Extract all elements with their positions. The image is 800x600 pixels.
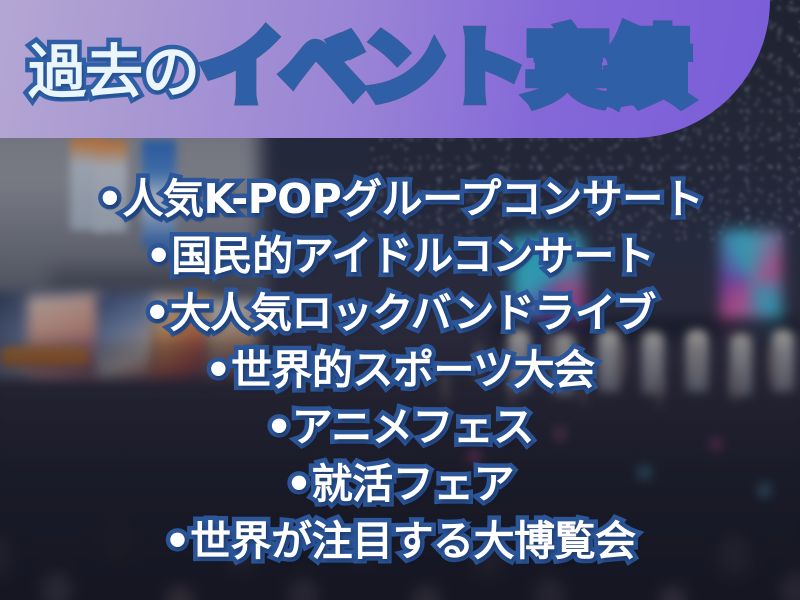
list-item-label: •世界が注目する大博覧会 <box>164 507 635 567</box>
title-part-past: 過去の <box>28 17 199 127</box>
list-item-label: •アニメフェス <box>266 393 534 453</box>
slide-root: 過去のイベント実績 •人気K-POPグループコンサート •国民的アイドルコンサー… <box>0 0 800 600</box>
list-item-label: •世界的スポーツ大会 <box>205 336 594 396</box>
list-item: •人気K-POPグループコンサート <box>97 166 703 223</box>
list-item-label: •人気K-POPグループコンサート <box>97 165 703 225</box>
title-part-result: 実績 <box>527 14 689 124</box>
list-item: •世界が注目する大博覧会 <box>164 508 635 565</box>
achievement-list: •人気K-POPグループコンサート •国民的アイドルコンサート •大人気ロックバ… <box>0 166 800 565</box>
page-title: 過去のイベント実績 <box>28 14 689 131</box>
list-item-label: •大人気ロックバンドライブ <box>144 279 656 339</box>
list-item: •アニメフェス <box>266 394 534 451</box>
list-item: •国民的アイドルコンサート <box>146 223 655 280</box>
list-item-label: •就活フェア <box>286 450 514 510</box>
list-item: •就活フェア <box>286 451 514 508</box>
title-part-event: イベント <box>201 14 525 124</box>
list-item-label: •国民的アイドルコンサート <box>146 222 655 282</box>
list-item: •大人気ロックバンドライブ <box>144 280 656 337</box>
list-item: •世界的スポーツ大会 <box>205 337 594 394</box>
